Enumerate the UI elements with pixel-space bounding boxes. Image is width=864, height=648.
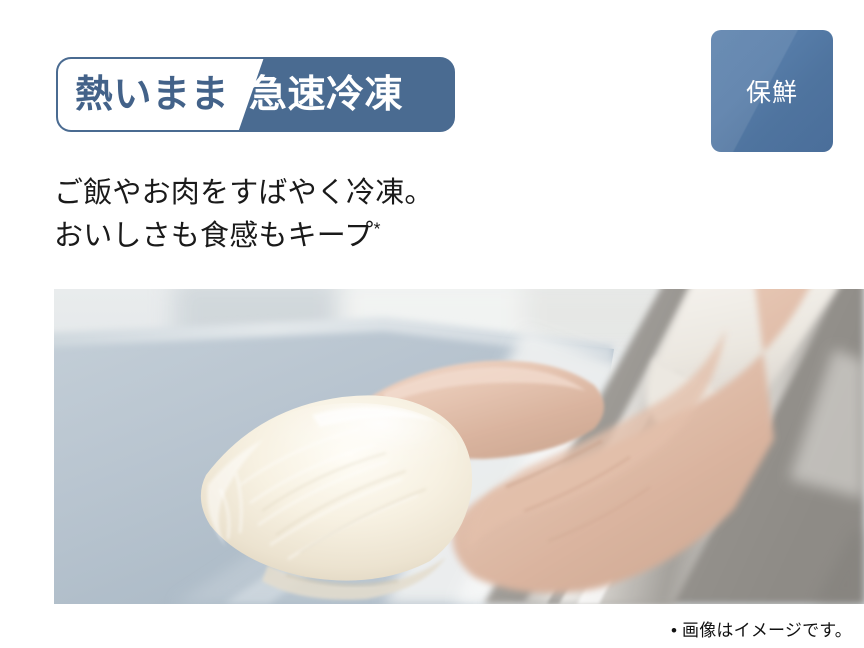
footnote-marker: * xyxy=(373,218,380,238)
preservation-tile-label: 保鮮 xyxy=(746,73,798,109)
copy-line-1: ご飯やお肉をすばやく冷凍。 xyxy=(54,172,614,215)
badge-right-label: 急速冷凍 xyxy=(249,76,403,114)
image-disclaimer-caption: • 画像はイメージです。 xyxy=(671,616,852,641)
copy-line-2: おいしさも食感もキープ* xyxy=(54,215,614,258)
product-photo xyxy=(54,289,864,604)
feature-badge: 熱いまま 急速冷凍 xyxy=(56,57,455,132)
copy-line-2-text: おいしさも食感もキープ xyxy=(54,220,373,252)
badge-content: 熱いまま 急速冷凍 xyxy=(58,59,453,130)
preservation-tile: 保鮮 xyxy=(711,30,833,152)
product-photo-illustration xyxy=(54,289,864,604)
headline-copy: ご飯やお肉をすばやく冷凍。 おいしさも食感もキープ* xyxy=(54,172,614,258)
promo-panel: 熱いまま 急速冷凍 保鮮 ご飯やお肉をすばやく冷凍。 おいしさも食感もキープ* xyxy=(0,0,864,648)
badge-left-label: 熱いまま xyxy=(75,76,229,114)
